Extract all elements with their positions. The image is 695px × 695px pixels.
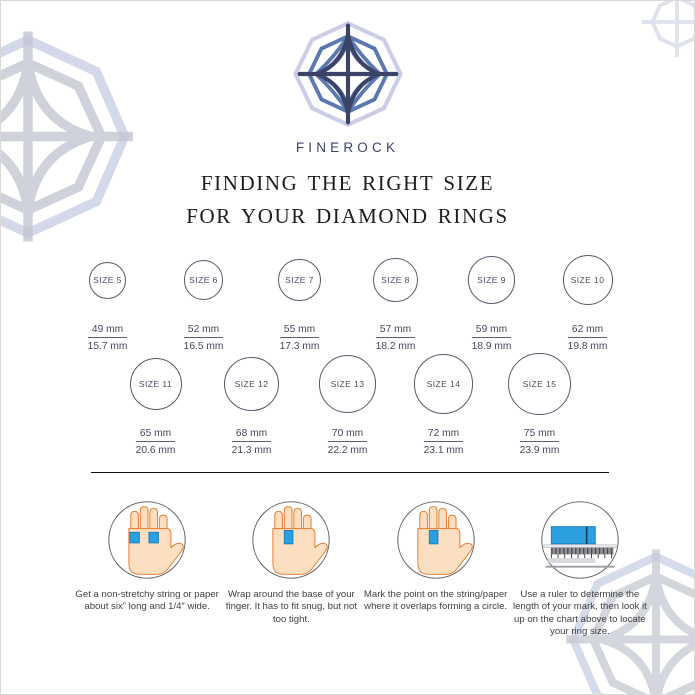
ring-diameter-value: 22.2 mm [328, 442, 368, 456]
ring-diameter-value: 23.1 mm [424, 442, 464, 456]
size-cell: SIZE 1575 mm23.9 mm [492, 353, 588, 456]
ring-size-label: SIZE 9 [477, 275, 506, 285]
size-circle-wrap: SIZE 7 [278, 249, 320, 311]
instruction-step-caption: Mark the point on the string/paper where… [364, 589, 508, 614]
section-divider [91, 472, 609, 473]
size-circle-wrap: SIZE 12 [224, 353, 279, 415]
ring-circumference-value: 65 mm [136, 428, 175, 442]
ring-measurements: 75 mm23.9 mm [520, 423, 560, 456]
ring-measurements: 57 mm18.2 mm [376, 319, 416, 352]
ring-diameter-value: 21.3 mm [232, 442, 272, 456]
size-row-2: SIZE 1165 mm20.6 mmSIZE 1268 mm21.3 mmSI… [1, 353, 694, 456]
ring-size-circle: SIZE 15 [508, 353, 570, 415]
size-circle-wrap: SIZE 11 [130, 353, 182, 415]
ring-size-circle: SIZE 13 [319, 355, 376, 412]
ring-size-label: SIZE 7 [285, 275, 314, 285]
size-cell: SIZE 652 mm16.5 mm [156, 249, 252, 352]
ring-diameter-value: 15.7 mm [88, 338, 128, 352]
page-title: Finding the right size for your diamond … [1, 164, 694, 230]
hand-marked-band-icon [388, 498, 484, 582]
size-cell: SIZE 755 mm17.3 mm [252, 249, 348, 352]
instruction-step-caption: Wrap around the base of your finger. It … [219, 589, 363, 626]
size-circle-wrap: SIZE 6 [184, 249, 224, 311]
ring-size-circle: SIZE 10 [563, 255, 613, 305]
ring-diameter-value: 17.3 mm [280, 338, 320, 352]
ring-size-label: SIZE 14 [427, 379, 461, 389]
ring-circumference-value: 70 mm [328, 428, 367, 442]
ring-size-label: SIZE 5 [93, 275, 122, 285]
ring-diameter-value: 18.9 mm [472, 338, 512, 352]
ring-measurements: 52 mm16.5 mm [184, 319, 224, 352]
ring-circumference-value: 75 mm [520, 428, 559, 442]
ring-size-circle: SIZE 6 [184, 260, 224, 300]
ring-measurements: 59 mm18.9 mm [472, 319, 512, 352]
ring-size-circle: SIZE 9 [468, 256, 515, 303]
instruction-step-caption: Use a ruler to determine the length of y… [508, 589, 652, 639]
instruction-steps: Get a non-stretchy string or paper about… [75, 498, 652, 639]
size-cell: SIZE 857 mm18.2 mm [348, 249, 444, 352]
ring-size-label: SIZE 10 [571, 275, 605, 285]
instruction-step: Get a non-stretchy string or paper about… [75, 498, 219, 639]
size-circle-wrap: SIZE 15 [508, 353, 570, 415]
ring-size-label: SIZE 8 [381, 275, 410, 285]
ring-diameter-value: 18.2 mm [376, 338, 416, 352]
ring-diameter-value: 19.8 mm [568, 338, 608, 352]
size-cell: SIZE 1370 mm22.2 mm [300, 353, 396, 456]
ring-circumference-value: 49 mm [88, 324, 127, 338]
ring-size-circle: SIZE 14 [414, 354, 474, 414]
size-circle-wrap: SIZE 14 [414, 353, 474, 415]
instruction-step-caption: Get a non-stretchy string or paper about… [75, 589, 219, 614]
instruction-step: Use a ruler to determine the length of y… [508, 498, 652, 639]
ring-circumference-value: 55 mm [280, 324, 319, 338]
ring-size-label: SIZE 12 [235, 379, 269, 389]
size-circle-wrap: SIZE 9 [468, 249, 515, 311]
instruction-step: Wrap around the base of your finger. It … [219, 498, 363, 639]
size-cell: SIZE 549 mm15.7 mm [60, 249, 156, 352]
ring-circumference-value: 52 mm [184, 324, 223, 338]
size-row-1: SIZE 549 mm15.7 mmSIZE 652 mm16.5 mmSIZE… [1, 249, 694, 352]
size-circle-wrap: SIZE 10 [563, 249, 613, 311]
ring-circumference-value: 57 mm [376, 324, 415, 338]
ring-diameter-value: 16.5 mm [184, 338, 224, 352]
size-circle-wrap: SIZE 5 [89, 249, 126, 311]
size-cell: SIZE 1165 mm20.6 mm [108, 353, 204, 456]
ring-measurements: 68 mm21.3 mm [232, 423, 272, 456]
ring-size-circle: SIZE 12 [224, 357, 279, 412]
hand-two-bands-icon [99, 498, 195, 582]
compass-star-icon [289, 15, 407, 133]
hand-one-band-icon [243, 498, 339, 582]
ring-circumference-value: 59 mm [472, 324, 511, 338]
ring-size-label: SIZE 13 [331, 379, 365, 389]
brand-header: FINEROCK [1, 15, 694, 155]
ring-circumference-value: 68 mm [232, 428, 271, 442]
ring-measurements: 49 mm15.7 mm [88, 319, 128, 352]
ring-measurements: 65 mm20.6 mm [136, 423, 176, 456]
ring-size-circle: SIZE 11 [130, 358, 182, 410]
size-cell: SIZE 1472 mm23.1 mm [396, 353, 492, 456]
page-title-line2: for your diamond rings [1, 197, 694, 230]
size-cell: SIZE 959 mm18.9 mm [444, 249, 540, 352]
ruler-measure-icon [532, 498, 628, 582]
ring-measurements: 72 mm23.1 mm [424, 423, 464, 456]
ring-size-label: SIZE 6 [189, 275, 218, 285]
size-circle-wrap: SIZE 13 [319, 353, 376, 415]
brand-wordmark: FINEROCK [1, 140, 694, 155]
ring-circumference-value: 62 mm [568, 324, 607, 338]
ring-measurements: 70 mm22.2 mm [328, 423, 368, 456]
ring-size-circle: SIZE 5 [89, 262, 126, 299]
ring-diameter-value: 20.6 mm [136, 442, 176, 456]
ring-measurements: 55 mm17.3 mm [280, 319, 320, 352]
ring-size-label: SIZE 15 [523, 379, 557, 389]
ring-circumference-value: 72 mm [424, 428, 463, 442]
ring-diameter-value: 23.9 mm [520, 442, 560, 456]
ring-size-guide-page: FINEROCK Finding the right size for your… [0, 0, 695, 695]
size-circle-wrap: SIZE 8 [373, 249, 418, 311]
size-cell: SIZE 1062 mm19.8 mm [540, 249, 636, 352]
ring-size-circle: SIZE 7 [278, 259, 320, 301]
size-cell: SIZE 1268 mm21.3 mm [204, 353, 300, 456]
ring-size-circle: SIZE 8 [373, 258, 418, 303]
ring-size-label: SIZE 11 [139, 379, 172, 389]
ring-measurements: 62 mm19.8 mm [568, 319, 608, 352]
instruction-step: Mark the point on the string/paper where… [364, 498, 508, 639]
page-title-line1: Finding the right size [1, 164, 694, 197]
